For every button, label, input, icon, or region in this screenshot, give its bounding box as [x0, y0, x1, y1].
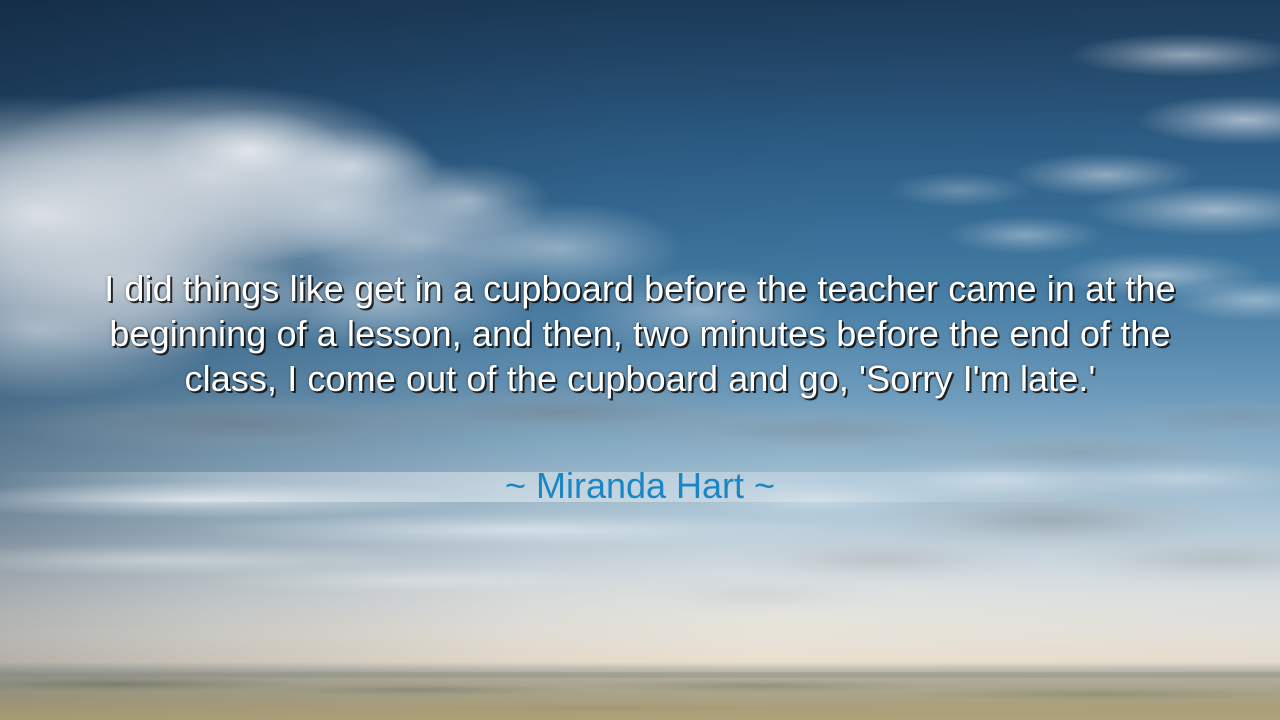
quote-card: I did things like get in a cupboard befo…	[0, 0, 1280, 720]
quote-block: I did things like get in a cupboard befo…	[80, 266, 1200, 401]
landscape-texture	[0, 668, 1280, 720]
quote-text: I did things like get in a cupboard befo…	[80, 266, 1200, 401]
quote-attribution: ~ Miranda Hart ~	[190, 464, 1090, 508]
